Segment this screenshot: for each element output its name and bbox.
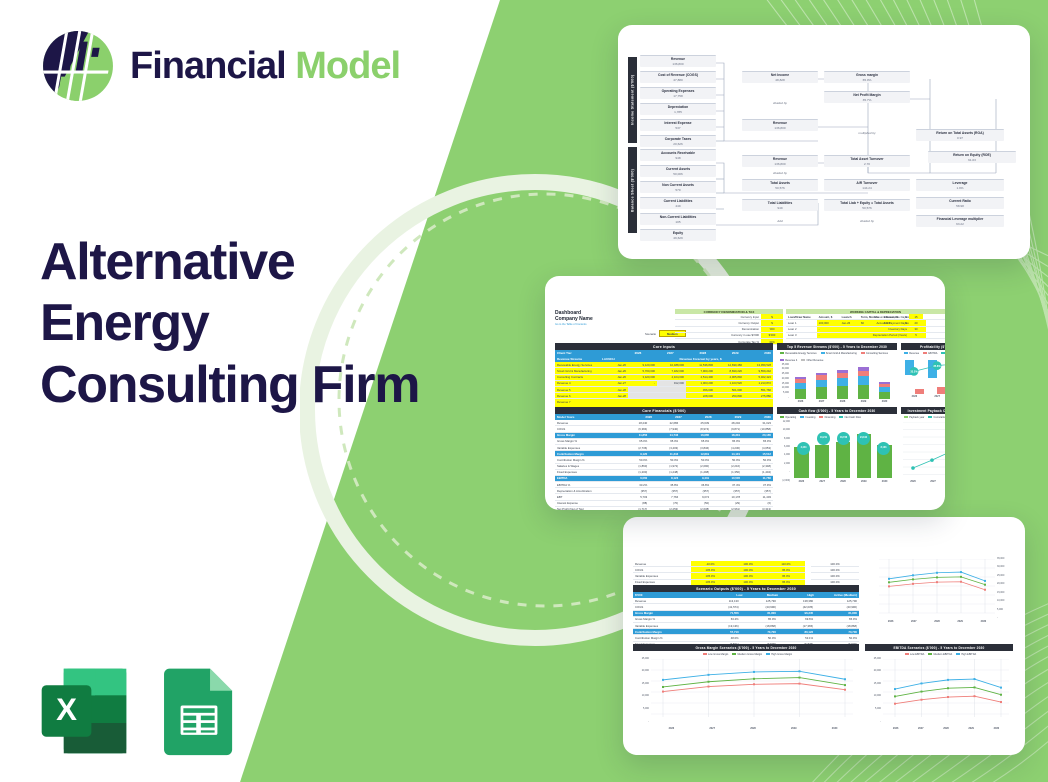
axis-tick: 20,000	[642, 669, 649, 672]
dupont-node-roe: Return on Equity (ROE) 61.03	[928, 151, 1016, 163]
legend-item: High EBITDA	[956, 653, 976, 656]
screenshot-dashboard[interactable]: Dashboard Company Name Go to the Table o…	[545, 276, 945, 510]
axis-tick: 2028	[934, 620, 940, 623]
dupont-node: Total Assets 50,576	[742, 179, 818, 191]
bar-segment	[837, 378, 849, 386]
chart-title: Cash flow ($'000) - 5 Years to December …	[777, 407, 897, 414]
axis-tick: -	[880, 720, 881, 723]
screenshot-dupont-analysis[interactable]: Income Statement ($'000) Balance Sheet (…	[618, 25, 1030, 259]
axis-tick: 5,000	[997, 608, 1003, 611]
axis-tick: 2027	[911, 620, 917, 623]
dupont-operator: multiplied by	[824, 131, 910, 135]
chart-title: Gross Margin Scenarios ($'000) - 5 Years…	[633, 644, 859, 651]
axis-tick: 2026	[912, 395, 918, 398]
legend-item: Net Cash Flow	[839, 416, 861, 419]
legend-item: Other Revenue	[801, 359, 823, 362]
axis-tick: 25,000	[874, 657, 881, 660]
axis-tick: 2029	[861, 400, 867, 403]
axis-tick: 6,000	[784, 445, 790, 448]
stacked-bar	[795, 377, 807, 399]
panel-currency: CURRENCY DENOMINATION & TAX Currency Inp…	[675, 309, 783, 345]
chart-title: Investment Payback Chart ($'000) - 5 Yea…	[901, 407, 945, 414]
axis-tick: 5,000	[783, 391, 789, 394]
dupont-operator: divided by	[742, 101, 818, 105]
axis-tick: 2028	[840, 480, 846, 483]
axis-tick: 5,000	[875, 707, 881, 710]
dupont-node: Depreciation 1,785	[640, 103, 716, 115]
axis-tick: -	[648, 720, 649, 723]
axis-tick: 2026	[798, 400, 804, 403]
axis-tick: 20,000	[782, 377, 789, 380]
bar	[937, 387, 945, 394]
dupont-node: Total Asset Turnover 2.70	[824, 155, 910, 167]
axis-tick: 2026	[910, 480, 916, 483]
axis-tick: 15,000	[642, 682, 649, 685]
axis-tick: 10,000	[782, 386, 789, 389]
axis-tick: 2026	[888, 620, 894, 623]
dupont-node: Revenue 136,800	[640, 55, 716, 67]
dupont-operator: divided by	[824, 219, 910, 223]
bar-segment	[858, 376, 870, 385]
chart-legend: Low EBITDAMedium EBITDAHigh EBITDA	[868, 653, 1013, 656]
chart-top-revenue-streams: Top 5 Revenue Streams ($'000) - 5 Years …	[777, 343, 897, 403]
axis-tick: 25,000	[782, 372, 789, 375]
dupont-operator: Add	[742, 219, 818, 223]
svg-text:35.8%: 35.8%	[933, 364, 941, 368]
chart-title: Top 5 Revenue Streams ($'000) - 5 Years …	[777, 343, 897, 350]
axis-tick: 30,000	[997, 565, 1004, 568]
bar-segment	[816, 380, 828, 388]
axis-tick: -	[788, 396, 789, 399]
chart-legend: Payback yearCumulative Cash Generated (l…	[904, 416, 945, 419]
section-title: Core Inputs	[555, 343, 773, 350]
bar-segment	[879, 392, 891, 398]
axis-tick: 2030	[882, 480, 888, 483]
legend-item: Cumulative Cash Generated (losses)	[928, 416, 945, 419]
page-title: Alternative Energy Consulting Firm	[40, 232, 420, 416]
axis-tick: -	[997, 616, 998, 619]
scenario-label: Scenario	[645, 332, 656, 336]
axis-tick: 25,000	[997, 574, 1004, 577]
data-label: 4,444	[797, 442, 810, 455]
chart-legend: OperatingInvestingFinancingNet Cash Flow	[780, 416, 897, 419]
stacked-bar	[837, 370, 849, 398]
chart-cash-flow: Cash flow ($'000) - 5 Years to December …	[777, 407, 897, 497]
axis-tick: 35,000	[997, 557, 1004, 560]
dupont-node: Non-Current Liabilities 105	[640, 213, 716, 225]
legend-item: Revenue	[904, 352, 919, 355]
axis-tick: 35,000	[782, 363, 789, 366]
legend-item: Renewable Energy Services	[780, 352, 817, 355]
brand-wordmark: Financial Model	[130, 47, 400, 85]
financial-model-logo-icon	[40, 28, 116, 104]
brand-word-financial: Financial	[130, 45, 286, 87]
dupont-node: Revenue 136,800	[742, 155, 818, 167]
bar-segment	[795, 389, 807, 399]
axis-tick: 2030	[832, 727, 838, 730]
axis-tick: 10,000	[642, 694, 649, 697]
bar-segment	[816, 387, 828, 398]
table-core-inputs: Core Inputs Client Tier 2026 2027 2028 2…	[555, 343, 773, 417]
axis-tick: 2027	[918, 727, 924, 730]
dupont-node: Net Profit Margin 35.7%	[824, 91, 910, 103]
panel-key-metrics: KEY METRICS Return on Equity (ROE)61.03 …	[925, 309, 945, 339]
axis-tick: 2027	[934, 395, 940, 398]
axis-tick: 8,000	[784, 437, 790, 440]
section-title: Core Financials ($'000)	[555, 407, 773, 414]
legend-item: EBITDA	[923, 352, 937, 355]
svg-text:33.2%: 33.2%	[910, 369, 918, 373]
dupont-node: Revenue 136,800	[742, 119, 818, 131]
dupont-node: Interest Expense 537	[640, 119, 716, 131]
section-title: Scenario Outputs ($'000) - 5 Years to De…	[633, 585, 859, 592]
dupont-node: Total Liab + Equity = Total Assets 50,57…	[824, 199, 910, 211]
dupont-node: Net Income 48,828	[742, 71, 818, 83]
file-format-badges: X	[38, 665, 245, 757]
axis-tick: 30,000	[782, 367, 789, 370]
bar	[915, 389, 924, 394]
axis-tick: 12,000	[783, 420, 790, 423]
dupont-node: Operating Expenses 17,758	[640, 87, 716, 99]
axis-tick: 2027	[819, 480, 825, 483]
legend-item: Low EBITDA	[905, 653, 925, 656]
dupont-operator: divided by	[742, 171, 818, 175]
stacked-bar	[879, 382, 891, 399]
dashboard-toc-link[interactable]: Go to the Table of Contents	[555, 323, 593, 326]
dupont-node: Current Ratio 58.98	[916, 197, 1004, 209]
axis-tick: 2028	[840, 400, 846, 403]
axis-tick: 2029	[861, 480, 867, 483]
legend-item: Consulting Services	[861, 352, 888, 355]
table-core-financials: Core Financials ($'000) Model Years 2026…	[555, 407, 773, 510]
axis-tick: 2026	[893, 727, 899, 730]
axis-tick: 15,000	[997, 591, 1004, 594]
chart-investment-payback: Investment Payback Chart ($'000) - 5 Yea…	[901, 407, 945, 497]
axis-tick: 25,000	[642, 657, 649, 660]
microsoft-excel-icon: X	[38, 665, 130, 757]
dupont-node: A/R Turnover 144.24	[824, 179, 910, 191]
axis-tick: (2,000)	[782, 479, 790, 482]
legend-item: High Gross Margin	[766, 653, 792, 656]
axis-tick: 2028	[943, 727, 949, 730]
dashboard-company: Company Name	[555, 316, 593, 322]
axis-tick: 2026	[669, 727, 675, 730]
screenshot-scenarios[interactable]: Revenue-10.0%100.0%110.0%COGS105.0%100.0…	[623, 517, 1025, 755]
legend-item: Investing	[800, 416, 815, 419]
dupont-node: Return on Total Assets (ROA) 0.97	[916, 129, 1004, 141]
table-row: Net Profit (Net of Tax)(1,717)(2,253)(2,…	[555, 507, 773, 510]
axis-tick: 15,000	[782, 382, 789, 385]
axis-tick: 2027	[709, 727, 715, 730]
axis-tick: 4,000	[784, 453, 790, 456]
stacked-bar	[858, 367, 870, 398]
dupont-node: Corporate Taxes 20,626	[640, 135, 716, 147]
stacked-bar	[816, 373, 828, 399]
axis-tick: 10,000	[997, 599, 1004, 602]
dupont-node: Current Assets 50,006	[640, 165, 716, 177]
axis-tick: 20,000	[874, 669, 881, 672]
data-label: 16,728	[837, 432, 850, 445]
data-label: 24,190	[857, 432, 870, 445]
axis-tick: 10,000	[783, 428, 790, 431]
axis-tick: 2029	[968, 727, 974, 730]
dupont-side-label-balance-sheet: Balance Sheet ($'000)	[628, 147, 637, 233]
dupont-node: Total Liabilities 949	[742, 199, 818, 211]
axis-tick: 15,000	[874, 682, 881, 685]
bar	[815, 445, 830, 478]
axis-tick: -	[789, 470, 790, 473]
data-label: 10,241	[817, 432, 830, 445]
axis-tick: 2030	[981, 620, 987, 623]
dupont-node: Gross margin 65.0%	[824, 71, 910, 83]
chart-profitability: Profitability ($'000) - 5 Years to Decem…	[901, 343, 945, 403]
data-label: 8,103	[877, 442, 890, 455]
axis-tick: 5,000	[643, 707, 649, 710]
brand-logo: Financial Model	[40, 28, 400, 104]
axis-tick: 2030	[882, 400, 888, 403]
dupont-node: Accounts Receivable 948	[640, 149, 716, 161]
bar	[836, 442, 851, 478]
axis-tick: 2028	[750, 727, 756, 730]
axis-tick: 2,000	[784, 462, 790, 465]
dupont-side-label-income-statement: Income Statement ($'000)	[628, 57, 637, 143]
chart-scenario-overview: 35,00030,00025,00020,00015,00010,0005,00…	[867, 557, 1013, 637]
dupont-node: Non Current Assets 570	[640, 181, 716, 193]
axis-tick: 2026	[799, 480, 805, 483]
axis-tick: 20,000	[997, 582, 1004, 585]
legend-item: Payback year	[904, 416, 924, 419]
google-sheets-icon	[153, 665, 245, 757]
legend-item: Financing	[819, 416, 835, 419]
legend-item: Medium EBITDA	[928, 653, 952, 656]
legend-item: Smart Grid & Manufacturing	[821, 352, 857, 355]
axis-tick: 2027	[930, 480, 936, 483]
legend-item: EBITDA %	[941, 352, 945, 355]
chart-title: Profitability ($'000) - 5 Years to Decem…	[901, 343, 945, 350]
panel-working-capital-depreciation-main: WORKING CAPITAL & DEPRECIATION Accounts …	[828, 309, 923, 339]
legend-item: Low Gross Margin	[703, 653, 728, 656]
chart-title: EBITDA Scenarios ($'000) - 5 Years to De…	[865, 644, 1013, 651]
dupont-node: Leverage 1.9%	[916, 179, 1004, 191]
legend-item: Operating	[780, 416, 796, 419]
axis-tick: 10,000	[874, 694, 881, 697]
dupont-node: Current Liabilities 449	[640, 197, 716, 209]
axis-tick: 2030	[994, 727, 1000, 730]
bar-segment	[837, 386, 849, 398]
dupont-node: Equity 49,629	[640, 229, 716, 241]
brand-word-model: Model	[295, 45, 400, 87]
bar-segment	[858, 385, 870, 399]
dupont-diagram: Income Statement ($'000) Balance Sheet (…	[628, 53, 1022, 237]
dupont-node: Cost of Revenue (COGS) 47,880	[640, 71, 716, 83]
svg-text:X: X	[56, 692, 77, 727]
legend-item: Revenue 4	[780, 359, 797, 362]
chart-legend: RevenueEBITDAEBITDA %	[904, 352, 945, 355]
axis-tick: 2029	[791, 727, 797, 730]
chart-legend: Renewable Energy ServicesSmart Grid & Ma…	[780, 352, 897, 362]
legend-item: Medium Gross Margin	[732, 653, 762, 656]
promo-banner: Financial Model Alternative Energy Consu…	[0, 0, 1048, 782]
chart-legend: Low Gross MarginMedium Gross MarginHigh …	[636, 653, 859, 656]
chart-ebitda-scenarios: EBITDA Scenarios ($'000) - 5 Years to De…	[865, 644, 1013, 744]
chart-gross-margin-scenarios: Gross Margin Scenarios ($'000) - 5 Years…	[633, 644, 859, 744]
dupont-node: Financial Leverage multiplier 63.22	[916, 215, 1004, 227]
axis-tick: 2029	[957, 620, 963, 623]
axis-tick: 2027	[819, 400, 825, 403]
